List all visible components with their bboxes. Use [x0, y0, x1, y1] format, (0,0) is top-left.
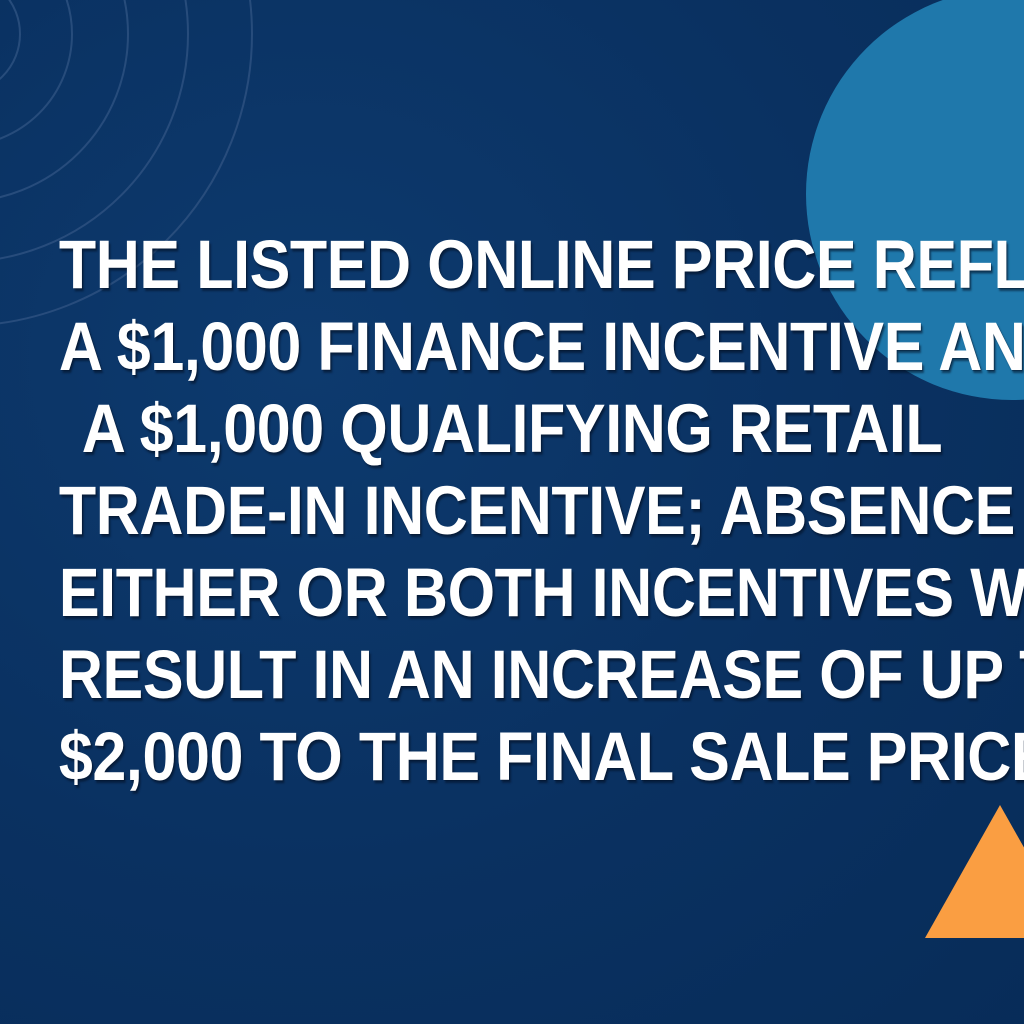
headline-line-2: A $1,000 FINANCE INCENTIVE AND	[59, 306, 965, 388]
headline-line-5: EITHER OR BOTH INCENTIVES WILL	[59, 552, 965, 634]
headline-line-3: A $1,000 QUALIFYING RETAIL	[59, 388, 965, 470]
headline-line-1: THE LISTED ONLINE PRICE REFLECTS	[59, 224, 965, 306]
headline-line-6: RESULT IN AN INCREASE OF UP TO	[59, 634, 965, 716]
disclaimer-headline: THE LISTED ONLINE PRICE REFLECTS A $1,00…	[0, 224, 1024, 798]
headline-line-7: $2,000 TO THE FINAL SALE PRICE.	[59, 716, 965, 798]
headline-line-4: TRADE-IN INCENTIVE; ABSENCE OF	[59, 470, 965, 552]
disclaimer-graphic-canvas: THE LISTED ONLINE PRICE REFLECTS A $1,00…	[0, 0, 1024, 1024]
